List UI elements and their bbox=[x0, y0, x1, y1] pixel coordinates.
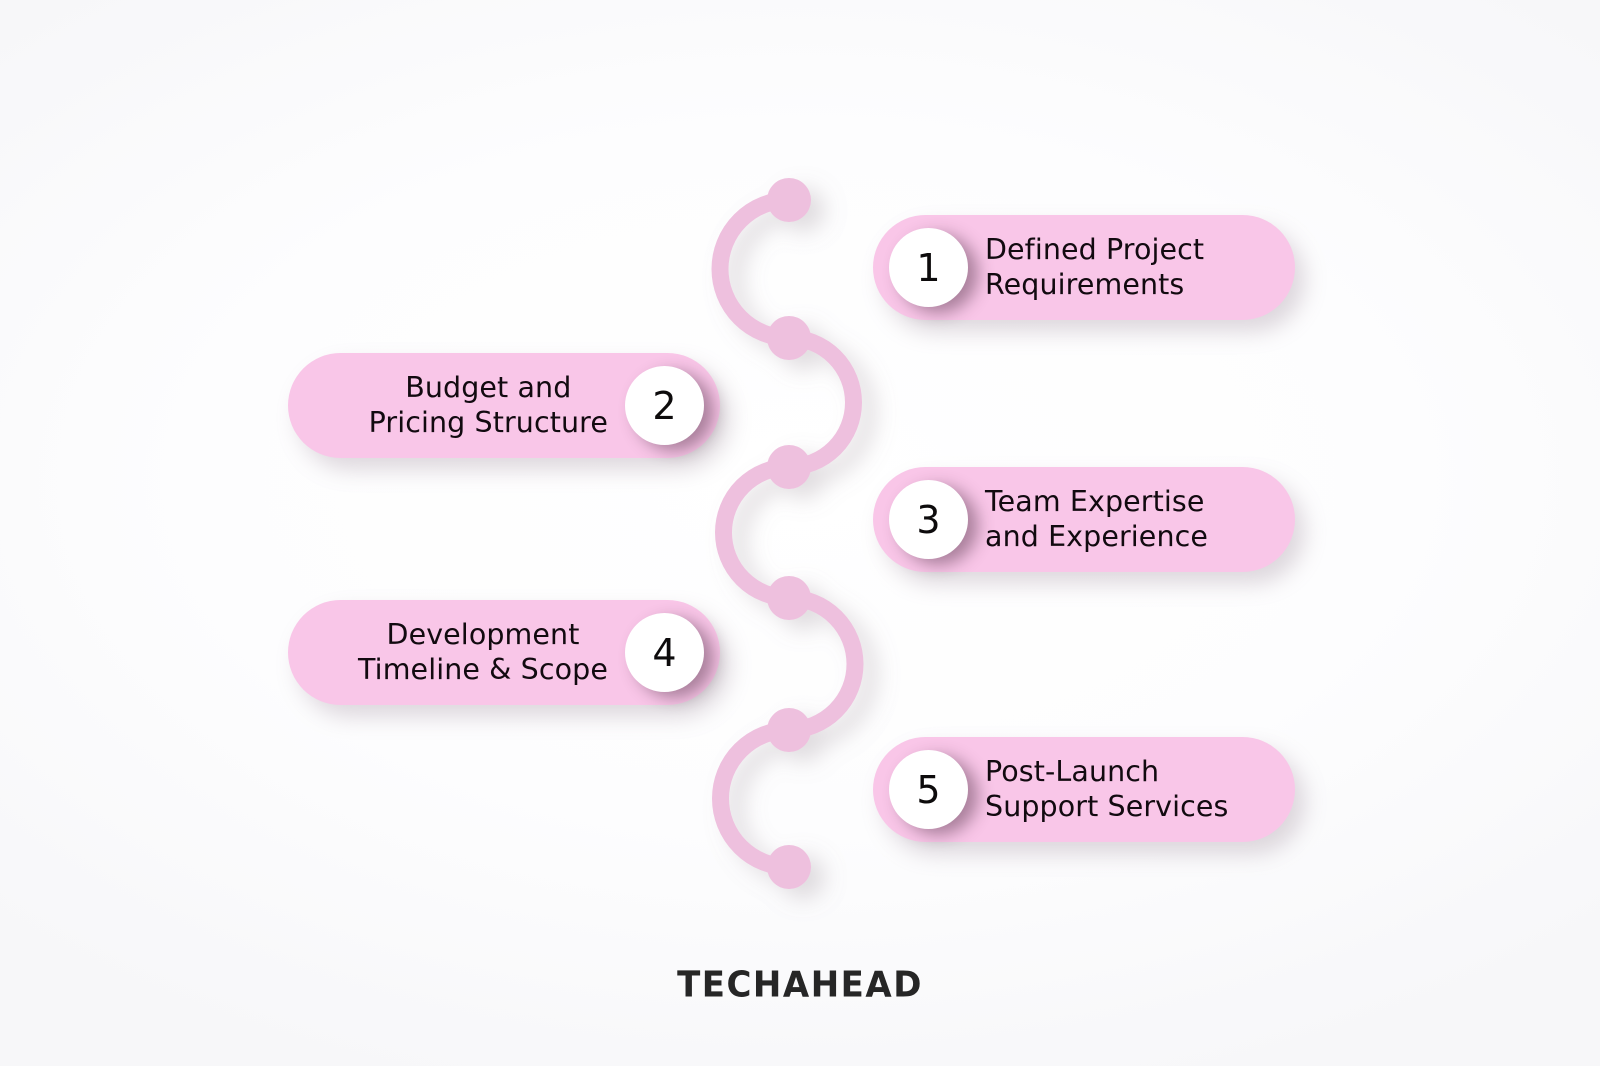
step-item-1[interactable]: 1 Defined Project Requirements bbox=[873, 215, 1295, 320]
step-item-5[interactable]: 5 Post-Launch Support Services bbox=[873, 737, 1295, 842]
step-number-badge-4: 4 bbox=[625, 613, 704, 692]
step-number-badge-3: 3 bbox=[889, 480, 968, 559]
step-item-4[interactable]: Development Timeline & Scope 4 bbox=[288, 600, 720, 705]
step-label-2: Budget and Pricing Structure bbox=[369, 371, 608, 441]
brand-logo: TECHAHEAD bbox=[0, 963, 1600, 1011]
page-background bbox=[0, 0, 1600, 1066]
step-number-3: 3 bbox=[916, 498, 940, 542]
step-label-3: Team Expertise and Experience bbox=[985, 485, 1208, 555]
step-number-2: 2 bbox=[652, 384, 676, 428]
techahead-logo-text: TECHAHEAD bbox=[677, 965, 923, 1006]
step-number-5: 5 bbox=[916, 768, 940, 812]
step-number-1: 1 bbox=[916, 246, 940, 290]
step-item-3[interactable]: 3 Team Expertise and Experience bbox=[873, 467, 1295, 572]
step-number-badge-1: 1 bbox=[889, 228, 968, 307]
step-label-1: Defined Project Requirements bbox=[985, 233, 1204, 303]
step-number-badge-2: 2 bbox=[625, 366, 704, 445]
step-label-4: Development Timeline & Scope bbox=[358, 618, 608, 688]
step-label-5: Post-Launch Support Services bbox=[985, 755, 1229, 825]
step-item-2[interactable]: Budget and Pricing Structure 2 bbox=[288, 353, 720, 458]
step-number-4: 4 bbox=[652, 631, 676, 675]
techahead-logo-icon: TECHAHEAD bbox=[650, 963, 950, 1007]
step-number-badge-5: 5 bbox=[889, 750, 968, 829]
